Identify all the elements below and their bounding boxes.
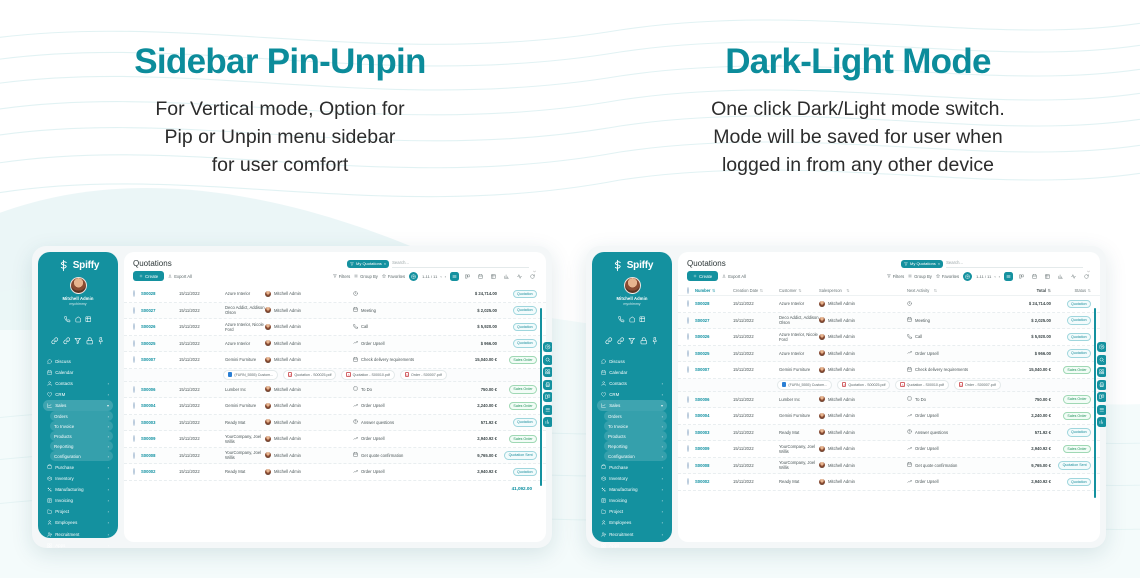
call-icon — [353, 324, 358, 330]
cell-next-activity[interactable]: Order Upsell — [353, 340, 449, 346]
sidebar-item-recruitment[interactable]: Recruitment› — [43, 529, 113, 540]
link-icon[interactable] — [63, 332, 71, 350]
pager-prev-icon[interactable]: ‹ — [994, 274, 995, 279]
link-icon[interactable] — [51, 332, 59, 350]
sidebar-item-label: Manufacturing — [609, 487, 658, 492]
sidebar-item-invoicing[interactable]: Invoicing› — [43, 495, 113, 506]
cell-status: Quotation — [1051, 478, 1091, 486]
cell-total: 9,765.00 € — [449, 453, 497, 458]
filters-button[interactable]: Filters — [333, 274, 350, 279]
table-row[interactable]: S0002615/11/2022Azure Interior, Nicole F… — [678, 329, 1100, 346]
sort-icon: ⇅ — [712, 288, 715, 293]
view-kanban-icon[interactable] — [463, 272, 472, 281]
sidebar-item-sales[interactable]: Sales▾ — [597, 400, 667, 411]
phone-icon[interactable] — [618, 310, 625, 328]
row-checkbox[interactable] — [687, 463, 695, 468]
status-badge: Sales Order — [1063, 445, 1091, 453]
pager[interactable]: 1-11 / 11‹› — [422, 274, 446, 279]
rail-kanban-icon[interactable] — [1097, 392, 1106, 402]
quick-actions-row-1 — [597, 310, 667, 328]
lock-icon[interactable] — [86, 332, 94, 350]
view-list-icon[interactable] — [450, 272, 459, 281]
sidebar-item-calendar[interactable]: Calendar — [597, 367, 667, 378]
cell-next-activity[interactable] — [907, 301, 1003, 307]
cell-total: $ 2,025.00 — [1003, 318, 1051, 323]
table-row[interactable]: S0000415/11/2022Gemini FurnitureMitchell… — [124, 398, 546, 415]
chevron-right-icon: › — [662, 414, 663, 419]
cell-next-activity[interactable]: Order Upsell — [907, 350, 1003, 356]
status-badge: Sales Order — [1063, 366, 1091, 374]
rail-chart-icon[interactable] — [543, 417, 552, 427]
cell-next-activity[interactable]: Answer questions — [907, 429, 1003, 435]
filter-icon[interactable] — [628, 332, 636, 350]
table-row[interactable]: S0000615/11/2022Lumber IncMitchell Admin… — [124, 382, 546, 399]
cell-next-activity[interactable]: Call — [907, 334, 1003, 340]
view-pivot-icon[interactable] — [489, 272, 498, 281]
chevron-right-icon: › — [662, 444, 663, 449]
cell-next-activity[interactable]: Answer questions — [353, 419, 449, 425]
cell-next-activity[interactable]: Meeting — [907, 317, 1003, 323]
cell-next-activity[interactable]: Order Upsell — [353, 436, 449, 442]
column-header-status[interactable]: Status⇅ — [1051, 288, 1091, 293]
row-checkbox[interactable] — [687, 479, 695, 484]
salesperson-name: Mitchell Admin — [274, 308, 301, 313]
pdf-file-icon: A — [405, 372, 409, 377]
sidebar-item-calendar[interactable]: Calendar — [43, 367, 113, 378]
sidebar-item-apps[interactable]: Apps› — [43, 540, 113, 548]
row-checkbox[interactable] — [687, 413, 695, 418]
chevron-down-icon[interactable] — [532, 261, 537, 266]
status-badge: Quotation — [1067, 316, 1091, 324]
sidebar-item-to-invoice[interactable]: To Invoice› — [50, 421, 113, 431]
search-input[interactable]: Search... — [946, 260, 1083, 268]
home-icon[interactable] — [629, 310, 636, 328]
table-row[interactable]: S0000315/11/2022Ready MatMitchell AdminA… — [124, 415, 546, 432]
cell-number[interactable]: S00008 — [141, 453, 179, 458]
table-row[interactable]: S0000815/11/2022YourCompany, Joel Willis… — [124, 448, 546, 465]
sidebar-item-label: Configuration — [54, 454, 105, 459]
table-row[interactable]: S0000915/11/2022YourCompany, Joel Willis… — [124, 431, 546, 448]
cell-number[interactable]: S00004 — [141, 403, 179, 408]
view-activity-icon[interactable] — [1069, 272, 1078, 281]
column-header-customer[interactable]: Customer⇅ — [779, 288, 819, 293]
sidebar-item-sales[interactable]: Sales▾ — [43, 400, 113, 411]
row-checkbox[interactable] — [687, 334, 695, 339]
sidebar-item-reporting[interactable]: Reporting› — [604, 441, 667, 451]
create-button[interactable]: Create — [687, 271, 718, 281]
facet-label: My Quotations — [356, 261, 382, 266]
cell-creation-date: 15/11/2022 — [179, 357, 225, 362]
cell-next-activity[interactable]: Check delivery requirements — [907, 367, 1003, 373]
chevron-right-icon: › — [662, 424, 663, 429]
cell-number[interactable]: S00006 — [141, 387, 179, 392]
calendar-icon — [353, 357, 358, 363]
export-all-button[interactable]: Export All — [722, 274, 746, 279]
group-by-button[interactable]: Group By — [354, 274, 378, 279]
cell-number[interactable]: S00007 — [141, 357, 179, 362]
sidebar-item-purchase[interactable]: Purchase› — [597, 461, 667, 472]
attachment-chip[interactable]: AQuotation - S00010.pdf — [341, 370, 394, 380]
table-row[interactable]: S0000615/11/2022Lumber IncMitchell Admin… — [678, 392, 1100, 409]
row-checkbox[interactable] — [133, 387, 141, 392]
sidebar-item-orders[interactable]: Orders› — [50, 411, 113, 421]
salesperson-name: Mitchell Admin — [274, 341, 301, 346]
table-row[interactable]: S0000915/11/2022YourCompany, Joel Willis… — [678, 441, 1100, 458]
cell-number[interactable]: S00008 — [695, 463, 733, 468]
cell-number[interactable]: S00009 — [695, 446, 733, 451]
cell-next-activity[interactable]: Order Upsell — [907, 479, 1003, 485]
quick-actions-row-2 — [597, 332, 667, 350]
cell-number[interactable]: S00028 — [695, 301, 733, 306]
sidebar-item-discuss[interactable]: Discuss — [597, 356, 667, 367]
row-checkbox[interactable] — [133, 436, 141, 441]
attachment-chip[interactable]: AQuotation - S00010.pdf — [895, 380, 948, 390]
cell-salesperson: Mitchell Admin — [265, 452, 353, 458]
row-checkbox[interactable] — [687, 318, 695, 323]
view-title: Quotations — [133, 259, 172, 268]
attachment-chip[interactable]: AOrder - S00007.pdf — [400, 370, 447, 380]
table-row[interactable]: S0002815/11/2022Azure InteriorMitchell A… — [678, 296, 1100, 313]
cell-number[interactable]: S00004 — [695, 413, 733, 418]
pager-next-icon[interactable]: › — [445, 274, 446, 279]
cell-number[interactable]: S00028 — [141, 291, 179, 296]
rail-apps-icon[interactable] — [1097, 367, 1106, 377]
row-checkbox[interactable] — [687, 367, 695, 372]
sidebar-item-purchase[interactable]: Purchase› — [43, 461, 113, 472]
cell-customer: Ready Mat — [225, 469, 265, 474]
activity-label: Check delivery requirements — [915, 367, 968, 372]
chevron-right-icon: › — [662, 498, 663, 503]
row-checkbox[interactable] — [133, 324, 141, 329]
select-all-checkbox[interactable] — [687, 288, 695, 293]
salesperson-name: Mitchell Admin — [274, 357, 301, 362]
cell-number[interactable]: S00003 — [695, 430, 733, 435]
table-row[interactable]: S0002515/11/2022Azure InteriorMitchell A… — [124, 336, 546, 353]
favorites-button[interactable]: Favorites — [382, 274, 405, 279]
quick-actions-row-1 — [43, 310, 113, 328]
rail-kanban-icon[interactable] — [543, 392, 552, 402]
attachment-chip[interactable]: (FURN_5555) Custom... — [777, 380, 832, 390]
column-header-next-activity[interactable]: Next Activity⇅ — [907, 288, 1003, 293]
sidebar-item-crm[interactable]: CRM› — [597, 389, 667, 400]
rail-search-icon[interactable] — [1097, 355, 1106, 365]
rail-settings-icon[interactable] — [1097, 342, 1106, 352]
link-icon[interactable] — [617, 332, 625, 350]
activity-label: Check delivery requirements — [361, 357, 414, 362]
search-facet-my-quotations[interactable]: My Quotations× — [347, 260, 389, 268]
cell-status: Quotation — [1051, 300, 1091, 308]
salesperson-name: Mitchell Admin — [828, 446, 855, 451]
cell-number[interactable]: S00002 — [695, 479, 733, 484]
attachment-chip[interactable]: (FURN_5555) Custom... — [223, 370, 278, 380]
activity-label: Order Upsell — [915, 446, 939, 451]
avatar[interactable] — [624, 277, 641, 294]
cell-number[interactable]: S00027 — [141, 308, 179, 313]
cell-next-activity[interactable]: To Do — [353, 386, 449, 392]
status-badge: Quotation Sent — [1058, 461, 1091, 469]
salesperson-name: Mitchell Admin — [274, 324, 301, 329]
cell-next-activity[interactable]: Get quote confirmation — [907, 462, 1003, 468]
row-checkbox[interactable] — [133, 403, 141, 408]
sidebar-item-contacts[interactable]: Contacts› — [43, 378, 113, 389]
row-checkbox[interactable] — [687, 397, 695, 402]
view-graph-icon[interactable] — [1056, 272, 1065, 281]
search-facet-my-quotations[interactable]: My Quotations× — [901, 260, 943, 268]
cell-next-activity[interactable]: Meeting — [353, 307, 449, 313]
sidebar-item-reporting[interactable]: Reporting› — [50, 441, 113, 451]
pin-icon[interactable] — [651, 332, 659, 350]
cell-next-activity[interactable]: Order Upsell — [907, 413, 1003, 419]
row-checkbox[interactable] — [133, 341, 141, 346]
cell-status: Quotation — [497, 290, 537, 298]
salesperson-name: Mitchell Admin — [828, 479, 855, 484]
column-header-creation-date[interactable]: Creation Date⇅ — [733, 288, 779, 293]
inventory-icon — [47, 476, 52, 481]
sidebar-item-label: Contacts — [55, 381, 104, 386]
view-calendar-icon[interactable] — [1030, 272, 1039, 281]
row-checkbox[interactable] — [687, 430, 695, 435]
close-icon[interactable]: × — [938, 261, 940, 266]
cell-number[interactable]: S00026 — [141, 324, 179, 329]
view-calendar-icon[interactable] — [476, 272, 485, 281]
avatar — [819, 301, 825, 307]
rail-apps-icon[interactable] — [543, 367, 552, 377]
close-icon[interactable]: × — [384, 261, 386, 266]
dark-light-mode-toggle[interactable] — [963, 272, 972, 281]
cell-number[interactable]: S00002 — [141, 469, 179, 474]
cell-salesperson: Mitchell Admin — [819, 301, 907, 307]
cell-total: 2,240.00 € — [449, 403, 497, 408]
sidebar-item-products[interactable]: Products› — [50, 431, 113, 441]
sort-icon: ⇅ — [760, 288, 763, 293]
row-checkbox[interactable] — [133, 308, 141, 313]
favorites-button[interactable]: Favorites — [936, 274, 959, 279]
cell-number[interactable]: S00003 — [141, 420, 179, 425]
cell-next-activity[interactable]: Order Upsell — [907, 446, 1003, 452]
cell-salesperson: Mitchell Admin — [819, 462, 907, 468]
rail-search-icon[interactable] — [543, 355, 552, 365]
rail-printer-icon[interactable] — [543, 380, 552, 390]
grid-icon[interactable] — [85, 310, 92, 328]
view-list-icon[interactable] — [1004, 272, 1013, 281]
row-checkbox[interactable] — [133, 357, 141, 362]
sidebar-item-to-invoice[interactable]: To Invoice› — [604, 421, 667, 431]
sidebar-item-inventory[interactable]: Inventory› — [43, 473, 113, 484]
sidebar-item-employees[interactable]: Employees› — [43, 517, 113, 528]
cell-status: Sales Order — [1051, 445, 1091, 453]
cell-creation-date: 15/11/2022 — [733, 318, 779, 323]
cell-creation-date: 15/11/2022 — [733, 334, 779, 339]
home-icon[interactable] — [75, 310, 82, 328]
brand[interactable]: Spiffy — [43, 259, 113, 272]
sidebar-item-contacts[interactable]: Contacts› — [597, 378, 667, 389]
status-badge: Sales Order — [509, 402, 537, 410]
avatar — [819, 334, 825, 340]
sidebar-item-project[interactable]: Project› — [43, 506, 113, 517]
chevron-right-icon: › — [662, 487, 663, 492]
contacts-icon — [601, 381, 606, 386]
row-checkbox[interactable] — [133, 453, 141, 458]
table-row[interactable]: S0000715/11/2022Gemini FurnitureMitchell… — [678, 362, 1100, 379]
attachment-chip[interactable]: AQuotation - S00025.pdf — [837, 380, 890, 390]
salesperson-name: Mitchell Admin — [274, 436, 301, 441]
cell-status: Quotation Sent — [497, 451, 537, 459]
pager-next-icon[interactable]: › — [999, 274, 1000, 279]
control-panel-top: QuotationsMy Quotations×Search... — [678, 252, 1100, 271]
table-row[interactable]: S0000815/11/2022YourCompany, Joel Willis… — [678, 458, 1100, 475]
pin-icon[interactable] — [97, 332, 105, 350]
attachment-chip[interactable]: AQuotation - S00025.pdf — [283, 370, 336, 380]
chevron-down-icon[interactable] — [1086, 261, 1091, 266]
sidebar-item-label: Inventory — [55, 476, 104, 481]
table-row[interactable]: S0002515/11/2022Azure InteriorMitchell A… — [678, 346, 1100, 363]
sidebar-item-apps[interactable]: Apps› — [597, 540, 667, 548]
row-checkbox[interactable] — [687, 351, 695, 356]
activity-label: Call — [361, 324, 368, 329]
view-graph-icon[interactable] — [502, 272, 511, 281]
search-bar[interactable]: My Quotations×Search... — [901, 260, 1091, 268]
phone-icon[interactable] — [64, 310, 71, 328]
activity-label: Order Upsell — [361, 403, 385, 408]
filter-icon[interactable] — [74, 332, 82, 350]
sidebar-item-crm[interactable]: CRM› — [43, 389, 113, 400]
column-label: Total — [1037, 288, 1046, 293]
cell-customer: Azure Interior — [225, 291, 265, 296]
sidebar-item-label: Sales — [55, 403, 104, 408]
cell-creation-date: 15/11/2022 — [733, 367, 779, 372]
attachments-row: (FURN_5555) Custom...AQuotation - S00025… — [678, 379, 1100, 392]
cell-number[interactable]: S00025 — [695, 351, 733, 356]
column-header-number[interactable]: Number⇅ — [695, 288, 733, 293]
sidebar-item-discuss[interactable]: Discuss — [43, 356, 113, 367]
table-row[interactable]: S0002715/11/2022Deco Addict, Addison Ols… — [124, 303, 546, 320]
cell-next-activity[interactable]: Call — [353, 324, 449, 330]
sales-icon — [601, 403, 606, 408]
view-activity-icon[interactable] — [515, 272, 524, 281]
table-row[interactable]: S0002615/11/2022Azure Interior, Nicole F… — [124, 319, 546, 336]
cell-next-activity[interactable]: Get quote confirmation — [353, 452, 449, 458]
view-kanban-icon[interactable] — [1017, 272, 1026, 281]
salesperson-name: Mitchell Admin — [828, 318, 855, 323]
search-bar[interactable]: My Quotations×Search... — [347, 260, 537, 268]
sidebar-item-configuration[interactable]: Configuration› — [604, 451, 667, 461]
cell-creation-date: 15/11/2022 — [733, 430, 779, 435]
cell-next-activity[interactable]: Check delivery requirements — [353, 357, 449, 363]
cell-total: 750.00 € — [1003, 397, 1051, 402]
column-header-salesperson[interactable]: Salesperson⇅ — [819, 288, 907, 293]
scrollbar[interactable] — [540, 308, 542, 486]
upsell-icon — [353, 436, 358, 442]
table-row[interactable]: S0000215/11/2022Ready MatMitchell AdminO… — [678, 474, 1100, 491]
activity-label: Answer questions — [361, 420, 394, 425]
create-button[interactable]: Create — [133, 271, 164, 281]
row-checkbox[interactable] — [687, 301, 695, 306]
filters-button[interactable]: Filters — [887, 274, 904, 279]
avatar[interactable] — [70, 277, 87, 294]
cell-number[interactable]: S00009 — [141, 436, 179, 441]
sidebar-item-employees[interactable]: Employees› — [597, 517, 667, 528]
cell-number[interactable]: S00007 — [695, 367, 733, 372]
sidebar-item-label: To Invoice — [54, 424, 105, 429]
rail-printer-icon[interactable] — [1097, 380, 1106, 390]
todo-icon — [907, 396, 912, 402]
cell-next-activity[interactable] — [353, 291, 449, 297]
group-by-button[interactable]: Group By — [908, 274, 932, 279]
brand[interactable]: Spiffy — [597, 259, 667, 272]
sidebar-item-label: CRM — [55, 392, 104, 397]
scrollbar[interactable] — [1094, 308, 1096, 498]
chevron-right-icon: › — [662, 532, 663, 537]
page-subtitle-right: One click Dark/Light mode switch. Mode w… — [576, 95, 1140, 179]
sidebar-item-manufacturing[interactable]: Manufacturing› — [597, 484, 667, 495]
avatar — [265, 403, 271, 409]
table-row[interactable]: S0000315/11/2022Ready MatMitchell AdminA… — [678, 425, 1100, 442]
dark-light-mode-toggle[interactable] — [409, 272, 418, 281]
pager[interactable]: 1-11 / 11‹› — [976, 274, 1000, 279]
cell-next-activity[interactable]: To Do — [907, 396, 1003, 402]
table-row[interactable]: S0000215/11/2022Ready MatMitchell AdminO… — [124, 464, 546, 481]
sidebar-item-recruitment[interactable]: Recruitment› — [597, 529, 667, 540]
rail-chart-icon[interactable] — [1097, 417, 1106, 427]
cell-next-activity[interactable]: Order Upsell — [353, 403, 449, 409]
calendar-icon — [907, 367, 912, 373]
lock-icon[interactable] — [640, 332, 648, 350]
avatar — [819, 413, 825, 419]
table-row[interactable]: S0000415/11/2022Gemini FurnitureMitchell… — [678, 408, 1100, 425]
sidebar-item-products[interactable]: Products› — [604, 431, 667, 441]
cell-total: 9,765.00 € — [1003, 463, 1051, 468]
sidebar-item-configuration[interactable]: Configuration› — [50, 451, 113, 461]
invoicing-icon — [47, 498, 52, 503]
column-header-total[interactable]: Total⇅ — [1003, 288, 1051, 293]
sidebar-item-invoicing[interactable]: Invoicing› — [597, 495, 667, 506]
group-by-label: Group By — [360, 274, 378, 279]
rail-list-icon[interactable] — [543, 405, 552, 415]
row-checkbox[interactable] — [133, 420, 141, 425]
sort-icon: ⇅ — [798, 288, 801, 293]
view-pivot-icon[interactable] — [1043, 272, 1052, 281]
table-row[interactable]: S0002815/11/2022Azure InteriorMitchell A… — [124, 286, 546, 303]
cell-number[interactable]: S00026 — [695, 334, 733, 339]
cell-next-activity[interactable]: Order Upsell — [353, 469, 449, 475]
table-row[interactable]: S0000715/11/2022Gemini FurnitureMitchell… — [124, 352, 546, 369]
sidebar-item-orders[interactable]: Orders› — [604, 411, 667, 421]
row-checkbox[interactable] — [687, 446, 695, 451]
search-input[interactable]: Search... — [392, 260, 529, 268]
cell-status: Quotation — [1051, 428, 1091, 436]
row-checkbox[interactable] — [133, 469, 141, 474]
sidebar-item-inventory[interactable]: Inventory› — [597, 473, 667, 484]
sidebar-item-project[interactable]: Project› — [597, 506, 667, 517]
cell-number[interactable]: S00025 — [141, 341, 179, 346]
pager-prev-icon[interactable]: ‹ — [440, 274, 441, 279]
link-icon[interactable] — [605, 332, 613, 350]
salesperson-name: Mitchell Admin — [274, 420, 301, 425]
rail-list-icon[interactable] — [1097, 405, 1106, 415]
activity-label: Get quote confirmation — [361, 453, 403, 458]
attachment-chip[interactable]: AOrder - S00007.pdf — [954, 380, 1001, 390]
cell-number[interactable]: S00006 — [695, 397, 733, 402]
filters-label: Filters — [893, 274, 904, 279]
export-all-button[interactable]: Export All — [168, 274, 192, 279]
sidebar-item-manufacturing[interactable]: Manufacturing› — [43, 484, 113, 495]
row-checkbox[interactable] — [133, 291, 141, 296]
cell-number[interactable]: S00027 — [695, 318, 733, 323]
cell-total: 2,940.92 € — [449, 436, 497, 441]
table-row[interactable]: S0002715/11/2022Deco Addict, Addison Ols… — [678, 313, 1100, 330]
grid-icon[interactable] — [639, 310, 646, 328]
rail-settings-icon[interactable] — [543, 342, 552, 352]
